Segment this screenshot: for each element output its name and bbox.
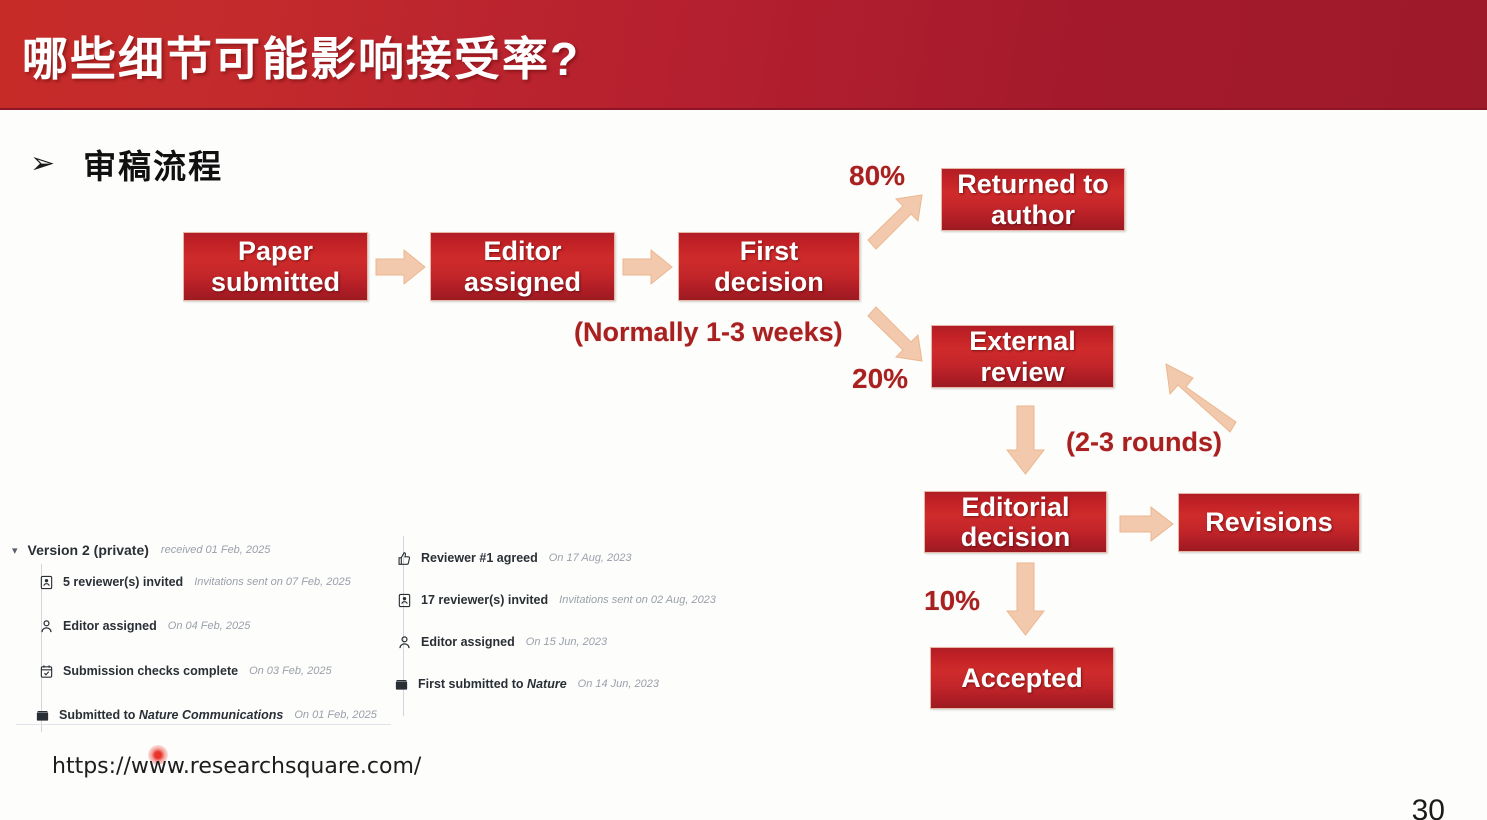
panel-divider bbox=[16, 724, 391, 725]
timeline-label: Submitted to Nature Communications bbox=[59, 708, 283, 722]
version-label: Version 2 (private) bbox=[28, 542, 149, 558]
timeline-label: 17 reviewer(s) invited bbox=[421, 593, 548, 607]
timeline-date: On 01 Feb, 2025 bbox=[294, 709, 377, 721]
section-subheading-label: 审稿流程 bbox=[83, 140, 223, 188]
page-number: 30 bbox=[1412, 794, 1445, 820]
person-icon bbox=[38, 618, 54, 634]
timeline-label: Editor assigned bbox=[63, 619, 157, 633]
flow-box-editor-assigned: Editorassigned bbox=[430, 232, 615, 301]
timeline-item-submitted-to-journal[interactable]: Submitted to Nature Communications On 01… bbox=[34, 707, 377, 723]
flow-box-accepted: Accepted bbox=[930, 647, 1114, 709]
page-title: 哪些细节可能影响接受率? bbox=[22, 23, 580, 89]
arrow-editorial-decision-to-accepted bbox=[1005, 563, 1047, 637]
flow-box-paper-submitted: Papersubmitted bbox=[183, 232, 368, 301]
chevron-down-icon[interactable]: ▾ bbox=[12, 544, 18, 557]
reviewer-invited-icon bbox=[396, 592, 412, 608]
timeline-date: On 04 Feb, 2025 bbox=[168, 620, 251, 632]
arrow-bullet-icon: ➢ bbox=[30, 149, 55, 179]
version-header[interactable]: ▾ Version 2 (private) received 01 Feb, 2… bbox=[12, 542, 270, 558]
journal-name: Nature bbox=[527, 677, 567, 691]
flow-box-returned-to-author: Returned toauthor bbox=[941, 168, 1125, 231]
thumbs-up-icon bbox=[396, 550, 412, 566]
timeline-date: On 03 Feb, 2025 bbox=[249, 665, 332, 677]
timeline-item-editor-assigned-right[interactable]: Editor assigned On 15 Jun, 2023 bbox=[396, 634, 607, 650]
arrow-first-decision-to-returned bbox=[866, 193, 934, 255]
timeline-date: On 15 Jun, 2023 bbox=[526, 636, 607, 648]
timeline-item-first-submitted[interactable]: First submitted to Nature On 14 Jun, 202… bbox=[393, 676, 659, 692]
timeline-label: Submission checks complete bbox=[63, 664, 238, 678]
person-icon bbox=[396, 634, 412, 650]
annotation-rounds-note: (2-3 rounds) bbox=[1066, 427, 1222, 458]
arrow-paper-to-editor bbox=[376, 248, 426, 286]
inbox-icon bbox=[34, 707, 50, 723]
title-banner: 哪些细节可能影响接受率? bbox=[0, 0, 1487, 110]
slide-canvas: 哪些细节可能影响接受率? ➢ 审稿流程 Papersubmitted Edito… bbox=[0, 0, 1487, 820]
timeline-item-submission-checks[interactable]: Submission checks complete On 03 Feb, 20… bbox=[38, 663, 332, 679]
annotation-pct-80: 80% bbox=[849, 160, 905, 192]
flow-box-first-decision: Firstdecision bbox=[678, 232, 860, 301]
timeline-label: Reviewer #1 agreed bbox=[421, 551, 538, 565]
reviewer-invited-icon bbox=[38, 574, 54, 590]
annotation-weeks-note: (Normally 1-3 weeks) bbox=[574, 317, 843, 348]
timeline-item-reviewer-agreed[interactable]: Reviewer #1 agreed On 17 Aug, 2023 bbox=[396, 550, 632, 566]
timeline-label: 5 reviewer(s) invited bbox=[63, 575, 183, 589]
timeline-label: Editor assigned bbox=[421, 635, 515, 649]
timeline-date: Invitations sent on 07 Feb, 2025 bbox=[194, 576, 351, 588]
arrow-external-review-to-editorial-decision bbox=[1005, 406, 1047, 476]
timeline-item-reviewers-invited-5[interactable]: 5 reviewer(s) invited Invitations sent o… bbox=[38, 574, 351, 590]
annotation-pct-10: 10% bbox=[924, 585, 980, 617]
flow-box-editorial-decision: Editorialdecision bbox=[924, 491, 1107, 553]
researchsquare-history-screenshot: ▾ Version 2 (private) received 01 Feb, 2… bbox=[0, 528, 820, 728]
calendar-check-icon bbox=[38, 663, 54, 679]
arrow-editorial-decision-to-revisions bbox=[1120, 505, 1174, 543]
timeline-date: On 14 Jun, 2023 bbox=[578, 678, 659, 690]
inbox-icon bbox=[393, 676, 409, 692]
timeline-item-reviewers-invited-17[interactable]: 17 reviewer(s) invited Invitations sent … bbox=[396, 592, 716, 608]
flow-box-revisions: Revisions bbox=[1178, 493, 1360, 552]
timeline-label: First submitted to Nature bbox=[418, 677, 567, 691]
arrow-first-decision-to-external-review bbox=[866, 302, 934, 364]
arrow-editor-to-first-decision bbox=[623, 248, 673, 286]
timeline-date: Invitations sent on 02 Aug, 2023 bbox=[559, 594, 716, 606]
flow-box-external-review: Externalreview bbox=[931, 325, 1114, 388]
annotation-pct-20: 20% bbox=[852, 363, 908, 395]
timeline-item-editor-assigned-left[interactable]: Editor assigned On 04 Feb, 2025 bbox=[38, 618, 250, 634]
section-subheading: ➢ 审稿流程 bbox=[30, 140, 223, 188]
source-url[interactable]: https://www.researchsquare.com/ bbox=[52, 754, 421, 779]
version-date: received 01 Feb, 2025 bbox=[161, 544, 270, 556]
journal-name: Nature Communications bbox=[139, 708, 283, 722]
timeline-date: On 17 Aug, 2023 bbox=[549, 552, 632, 564]
